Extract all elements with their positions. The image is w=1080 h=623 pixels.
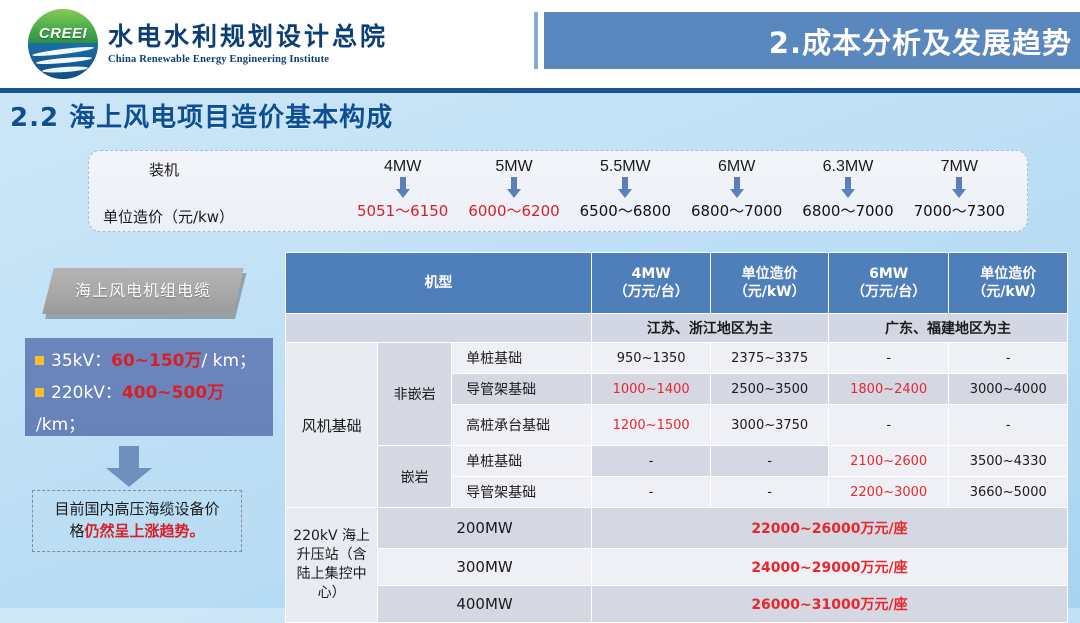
cable-voltage-label: 35kV： <box>51 346 111 371</box>
cost-breakdown-table: 机型 4MW （万元/台） 单位造价 （元/kW） 6MW （万元/台） 单位造… <box>285 252 1068 623</box>
substation-price: 26000~31000万元/座 <box>592 586 1067 622</box>
brand-name-block: 水电水利规划设计总院 China Renewable Energy Engine… <box>108 23 388 65</box>
cell-6mw: - <box>829 405 949 445</box>
th-unitcost-1-unit: （元/kW） <box>713 283 826 301</box>
trend-line-2-highlight: 仍然呈上涨趋势。 <box>85 522 205 540</box>
down-arrow-icon <box>458 176 569 200</box>
flow-down-arrow-icon <box>103 446 155 493</box>
cell-4mw: 950~1350 <box>592 343 711 373</box>
org-name-cn: 水电水利规划设计总院 <box>108 23 388 52</box>
cell-6mw: 2200~3000 <box>829 477 949 507</box>
page-header: CREEI 水电水利规划设计总院 China Renewable Energy … <box>0 0 1080 88</box>
table-header-row: 机型 4MW （万元/台） 单位造价 （元/kW） 6MW （万元/台） 单位造… <box>286 253 1067 313</box>
cell-6mw: 2100~2600 <box>829 446 949 476</box>
cell-4mw: - <box>592 446 711 476</box>
capacity-label: 6.3MW <box>792 158 903 176</box>
price-strip-columns: 4MW 5051～6150 5MW 6000～6200 5.5MW 6500～6… <box>347 155 1015 221</box>
cell-6mw: 1800~2400 <box>829 374 949 404</box>
price-column: 5MW 6000～6200 <box>458 155 569 221</box>
th-6mw-main: 6MW <box>831 265 947 283</box>
header-divider <box>0 88 1080 93</box>
cell-unitcost-1: 3000~3750 <box>711 405 828 445</box>
th-model: 机型 <box>286 253 591 313</box>
cable-price-item: 220kV： 400~500万 <box>35 378 263 403</box>
price-column: 7MW 7000～7300 <box>904 155 1015 221</box>
th-4mw-main: 4MW <box>594 265 709 283</box>
capacity-label: 6MW <box>681 158 792 176</box>
section-banner-label: 2.成本分析及发展趋势 <box>769 20 1080 62</box>
th-unitcost-2: 单位造价 （元/kW） <box>949 253 1067 313</box>
capacity-label: 4MW <box>347 158 458 176</box>
trend-line-2: 格仍然呈上涨趋势。 <box>69 521 204 543</box>
creei-logo-icon: CREEI <box>28 9 98 79</box>
cell-4mw: - <box>592 477 711 507</box>
cable-price-item: 35kV： 60~150万 / km； <box>35 346 263 371</box>
capacity-label: 5MW <box>458 158 569 176</box>
cable-price-value: 60~150万 <box>111 346 201 371</box>
group-foundation: 风机基础 <box>286 343 377 507</box>
region-left: 江苏、浙江地区为主 <box>592 314 828 342</box>
substation-price: 22000~26000万元/座 <box>592 508 1067 548</box>
cell-6mw: - <box>829 343 949 373</box>
table-row: 风机基础 非嵌岩 单桩基础 950~1350 2375~3375 - - <box>286 343 1067 373</box>
price-range: 6000～6200 <box>458 200 569 221</box>
cable-section-tag: 海上风电机组电缆 <box>42 268 243 314</box>
price-strip-labels: 装机 单位造价（元/kw） <box>103 159 234 227</box>
down-arrow-icon <box>792 176 903 200</box>
subgroup-non-rock: 非嵌岩 <box>378 343 451 445</box>
cable-price-callout: 35kV： 60~150万 / km； 220kV： 400~500万 /km； <box>25 338 273 436</box>
price-range: 7000～7300 <box>904 200 1015 221</box>
down-arrow-icon <box>681 176 792 200</box>
row-type: 单桩基础 <box>452 343 591 373</box>
subgroup-rock: 嵌岩 <box>378 446 451 507</box>
trend-conclusion-box: 目前国内高压海缆设备价 格仍然呈上涨趋势。 <box>32 490 242 552</box>
cell-unitcost-1: 2375~3375 <box>711 343 828 373</box>
th-unitcost-1-main: 单位造价 <box>713 265 826 283</box>
th-6mw: 6MW （万元/台） <box>829 253 949 313</box>
region-right: 广东、福建地区为主 <box>829 314 1067 342</box>
capacity-label: 5.5MW <box>570 158 681 176</box>
down-arrow-icon <box>904 176 1015 200</box>
row-type: 导管架基础 <box>452 374 591 404</box>
substation-capacity: 200MW <box>378 508 591 548</box>
th-4mw-unit: （万元/台） <box>594 283 709 301</box>
logo-acronym: CREEI <box>28 25 98 42</box>
row-type: 单桩基础 <box>452 446 591 476</box>
table-row: 220kV 海上升压站（含陆上集控中心） 200MW 22000~26000万元… <box>286 508 1067 548</box>
substation-capacity: 300MW <box>378 549 591 585</box>
region-row-blank <box>286 314 591 342</box>
table-row: 嵌岩 单桩基础 - - 2100~2600 3500~4330 <box>286 446 1067 476</box>
th-6mw-unit: （万元/台） <box>831 283 947 301</box>
cell-unitcost-2: - <box>949 405 1067 445</box>
down-arrow-icon <box>570 176 681 200</box>
price-column: 6MW 6800～7000 <box>681 155 792 221</box>
price-strip-label-unitcost: 单位造价（元/kw） <box>103 206 234 227</box>
price-range: 5051～6150 <box>347 200 458 221</box>
price-column: 6.3MW 6800～7000 <box>792 155 903 221</box>
price-range: 6800～7000 <box>681 200 792 221</box>
cable-price-value: 400~500万 <box>122 378 224 403</box>
cell-4mw: 1200~1500 <box>592 405 711 445</box>
bullet-square-icon <box>35 356 44 365</box>
price-strip-label-capacity: 装机 <box>149 159 234 180</box>
section-banner: 2.成本分析及发展趋势 <box>540 12 1080 69</box>
substation-capacity: 400MW <box>378 586 591 622</box>
price-column: 4MW 5051～6150 <box>347 155 458 221</box>
cell-unitcost-1: 2500~3500 <box>711 374 828 404</box>
price-column: 5.5MW 6500～6800 <box>570 155 681 221</box>
capacity-label: 7MW <box>904 158 1015 176</box>
th-unitcost-2-unit: （元/kW） <box>951 283 1065 301</box>
unit-cost-summary-panel: 装机 单位造价（元/kw） 4MW 5051～6150 5MW 6000～620… <box>88 150 1028 232</box>
cable-voltage-label: 220kV： <box>51 378 122 403</box>
cable-price-unit-tail: /km； <box>36 410 263 435</box>
bullet-square-icon <box>35 388 44 397</box>
cell-unitcost-2: 3660~5000 <box>949 477 1067 507</box>
th-unitcost-2-main: 单位造价 <box>951 265 1065 283</box>
th-unitcost-1: 单位造价 （元/kW） <box>711 253 828 313</box>
price-range: 6500～6800 <box>570 200 681 221</box>
banner-accent-bar <box>534 12 538 69</box>
table-row: 400MW 26000~31000万元/座 <box>286 586 1067 622</box>
cable-price-unit: / km； <box>202 346 257 371</box>
row-type: 高桩承台基础 <box>452 405 591 445</box>
th-4mw: 4MW （万元/台） <box>592 253 711 313</box>
page-title: 2.2 海上风电项目造价基本构成 <box>10 97 393 134</box>
price-range: 6800～7000 <box>792 200 903 221</box>
org-name-en: China Renewable Energy Engineering Insti… <box>108 54 388 65</box>
trend-line-1: 目前国内高压海缆设备价 <box>54 499 219 521</box>
down-arrow-icon <box>347 176 458 200</box>
cell-unitcost-2: 3000~4000 <box>949 374 1067 404</box>
group-substation: 220kV 海上升压站（含陆上集控中心） <box>286 508 377 622</box>
cell-4mw: 1000~1400 <box>592 374 711 404</box>
trend-line-2-prefix: 格 <box>69 522 84 540</box>
brand-logo: CREEI 水电水利规划设计总院 China Renewable Energy … <box>28 9 388 79</box>
cell-unitcost-2: - <box>949 343 1067 373</box>
table-region-row: 江苏、浙江地区为主 广东、福建地区为主 <box>286 314 1067 342</box>
substation-price: 24000~29000万元/座 <box>592 549 1067 585</box>
cell-unitcost-2: 3500~4330 <box>949 446 1067 476</box>
cell-unitcost-1: - <box>711 477 828 507</box>
cable-section-tag-label: 海上风电机组电缆 <box>48 268 238 314</box>
cell-unitcost-1: - <box>711 446 828 476</box>
table-row: 300MW 24000~29000万元/座 <box>286 549 1067 585</box>
row-type: 导管架基础 <box>452 477 591 507</box>
